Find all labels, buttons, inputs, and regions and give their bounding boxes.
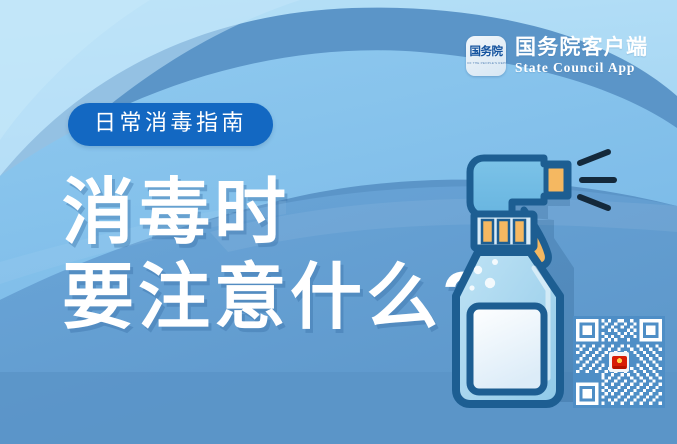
nozzle-tip [546,166,566,194]
collar-stripe-3 [514,220,525,243]
headline-line-1: 消毒时 [62,178,490,249]
headline-line-2: 要注意什么? [62,263,490,334]
bubble-3 [485,278,495,288]
logo-mark-cn-label: 国务院 [470,47,503,59]
state-council-app-qr-code[interactable] [573,316,665,408]
bottle-label [470,306,544,392]
bubble-4 [469,285,474,290]
page-title: 消毒时 要注意什么? [62,178,490,333]
bubble-2 [492,259,498,265]
logo-mark-sub-label: STATE COUNCIL OF THE PEOPLE'S REPUBLIC O… [466,61,506,65]
collar-stripes [482,220,525,243]
logo-title-en: State Council App [515,61,648,75]
state-council-app-logo[interactable]: 国务院 STATE COUNCIL OF THE PEOPLE'S REPUBL… [466,36,648,76]
poster-canvas: 国务院 STATE COUNCIL OF THE PEOPLE'S REPUBL… [0,0,677,444]
emblem-graphic [612,356,627,369]
state-council-app-icon[interactable]: 国务院 STATE COUNCIL OF THE PEOPLE'S REPUBL… [466,36,506,76]
series-badge: 日常消毒指南 [68,103,273,146]
national-emblem-icon [609,352,629,372]
series-badge-label: 日常消毒指南 [94,110,247,135]
collar-stripe-2 [498,220,509,243]
logo-text-block: 国务院客户端 State Council App [515,37,648,75]
collar-stripe-1 [482,220,493,243]
logo-title-cn: 国务院客户端 [515,37,648,58]
bubble-1 [474,266,482,274]
spray-lines [580,152,614,208]
